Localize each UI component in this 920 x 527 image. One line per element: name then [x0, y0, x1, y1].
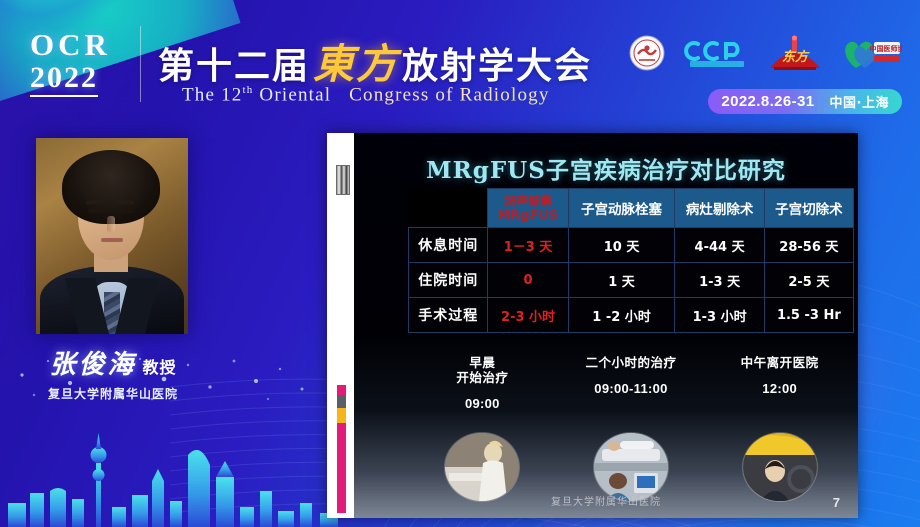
cell-hospitalization-myomectomy: 1-3 天 [675, 263, 764, 298]
table-header-row: 超声聚焦 MRgFUS 子宫动脉栓塞 病灶剔除术 子宫切除术 [409, 189, 854, 228]
slide-progress-segment-yellow [337, 408, 346, 423]
comparison-table: 超声聚焦 MRgFUS 子宫动脉栓塞 病灶剔除术 子宫切除术 休息时间 1－3 … [408, 188, 854, 333]
row-label-hospitalization: 住院时间 [409, 263, 488, 298]
table-col-mrgfus-en: MRgFUS [488, 208, 567, 222]
event-date: 2022.8.26-31 [710, 93, 825, 110]
timeline-step-morning: 早晨 开始治疗 09:00 [408, 355, 557, 411]
slide-page-number: 7 [833, 495, 840, 510]
portrait-eye-right [118, 208, 133, 213]
slide-progress-segment-gray [337, 395, 346, 408]
speaker-name: 张俊海 [49, 350, 136, 380]
timeline-step-treatment: 二个小时的治疗 09:00-11:00 [557, 355, 706, 411]
patient-in-mri-with-operator-photo [594, 433, 668, 501]
event-title-english: The 12th Oriental Congress of Radiology [182, 84, 550, 106]
shanghai-skyline-decoration [0, 407, 350, 527]
table-row: 手术过程 2-3 小时 1 -2 小时 1-3 小时 1.5 -3 Hr [409, 298, 854, 333]
speaker-name-row: 张俊海教授 [10, 344, 216, 381]
timeline-photos [408, 433, 854, 501]
timeline-step-treatment-label: 二个小时的治疗 [557, 355, 706, 370]
presentation-slide[interactable]: MRgFUS子宫疾病治疗对比研究 超声聚焦 MRgFUS 子宫动脉栓塞 病灶剔除… [327, 133, 858, 518]
timeline-step-discharge-time: 12:00 [705, 381, 854, 396]
portrait-nose [107, 216, 115, 232]
event-date-location: 2022.8.26-31 中国·上海 [708, 88, 902, 114]
speaker-portrait [36, 138, 188, 334]
event-title-cn-pre: 第十二届 [158, 46, 310, 87]
table-col-mrgfus: 超声聚焦 MRgFUS [488, 189, 568, 228]
cell-hospitalization-mrgfus: 0 [488, 263, 568, 298]
row-label-recovery: 休息时间 [409, 228, 488, 263]
portrait-eye-left [88, 208, 103, 213]
event-title-en-part3: Congress of Radiology [349, 84, 549, 105]
csr-wordmark-logo [684, 33, 750, 73]
cell-recovery-uae: 10 天 [568, 228, 675, 263]
table-col-hysterectomy: 子宫切除术 [764, 189, 853, 228]
treatment-timeline: 早晨 开始治疗 09:00 二个小时的治疗 09:00-11:00 中午离开医院 [408, 355, 854, 411]
portrait-hair [62, 150, 160, 224]
patient-driving-car-photo [743, 433, 817, 501]
cell-recovery-myomectomy: 4-44 天 [675, 228, 764, 263]
ocr-logo: OCR 2022 [30, 28, 130, 100]
timeline-step-morning-label: 早晨 开始治疗 [408, 355, 557, 385]
event-title-en-part1: The 12 [182, 84, 243, 105]
cell-recovery-hysterectomy: 28-56 天 [764, 228, 853, 263]
ocr-logo-mark: OCR [30, 28, 130, 62]
timeline-step-morning-time: 09:00 [408, 396, 557, 411]
chinese-medical-association-emblem-logo [628, 33, 666, 73]
speaker-organization: 复旦大学附属华山医院 [10, 385, 216, 402]
event-header-bar: OCR 2022 第十二届東方放射学大会 The 12th Oriental C… [0, 0, 920, 120]
timeline-step-treatment-time: 09:00-11:00 [557, 381, 706, 396]
patient-standing-by-mri-photo [445, 433, 519, 501]
event-title-en-part2: Oriental [253, 84, 331, 105]
table-col-uae: 子宫动脉栓塞 [568, 189, 675, 228]
svg-text:东方: 东方 [782, 49, 810, 65]
portrait-mouth [101, 238, 123, 242]
chinese-medical-heart-logo: 中国医师协 [840, 33, 902, 73]
slide-content: MRgFUS子宫疾病治疗对比研究 超声聚焦 MRgFUS 子宫动脉栓塞 病灶剔除… [354, 133, 858, 518]
event-title-cn-post: 放射学大会 [402, 46, 592, 87]
table-col-myomectomy: 病灶剔除术 [675, 189, 764, 228]
row-label-procedure: 手术过程 [409, 298, 488, 333]
timeline-step-discharge-label: 中午离开医院 [705, 355, 854, 370]
slide-left-strip [327, 133, 354, 518]
event-title-en-ordinal: th [243, 84, 254, 96]
slide-scroll-handle[interactable] [336, 165, 350, 195]
cell-procedure-myomectomy: 1-3 小时 [675, 298, 764, 333]
cell-recovery-mrgfus: 1－3 天 [488, 228, 568, 263]
event-title-cn-brush: 東方 [310, 40, 402, 88]
table-col-mrgfus-cn: 超声聚焦 [504, 194, 552, 208]
timeline-step-discharge: 中午离开医院 12:00 [705, 355, 854, 411]
speaker-title: 教授 [143, 358, 177, 377]
ocr-logo-year: 2022 [30, 62, 130, 97]
event-city: 中国·上海 [826, 92, 900, 111]
table-row: 住院时间 0 1 天 1-3 天 2-5 天 [409, 263, 854, 298]
speaker-portrait-frame [36, 138, 188, 334]
event-title-chinese: 第十二届東方放射学大会 [158, 30, 592, 90]
cell-hospitalization-hysterectomy: 2-5 天 [764, 263, 853, 298]
cell-hospitalization-uae: 1 天 [568, 263, 675, 298]
header-divider [140, 26, 141, 102]
slide-title: MRgFUS子宫疾病治疗对比研究 [354, 151, 858, 185]
date-pill: 2022.8.26-31 中国·上海 [708, 89, 902, 114]
oriental-red-badge-logo: 东方 [768, 33, 822, 73]
slide-footer-text: 复旦大学附属华山医院 [354, 493, 858, 508]
table-corner-cell [409, 189, 488, 228]
cell-procedure-hysterectomy: 1.5 -3 Hr [764, 298, 853, 333]
broadcast-screen: OCR 2022 第十二届東方放射学大会 The 12th Oriental C… [0, 0, 920, 527]
cell-procedure-mrgfus: 2-3 小时 [488, 298, 568, 333]
svg-text:中国医师协: 中国医师协 [870, 44, 903, 53]
cell-procedure-uae: 1 -2 小时 [568, 298, 675, 333]
table-row: 休息时间 1－3 天 10 天 4-44 天 28-56 天 [409, 228, 854, 263]
partner-logos: 东方 中国医师协 [628, 32, 902, 74]
